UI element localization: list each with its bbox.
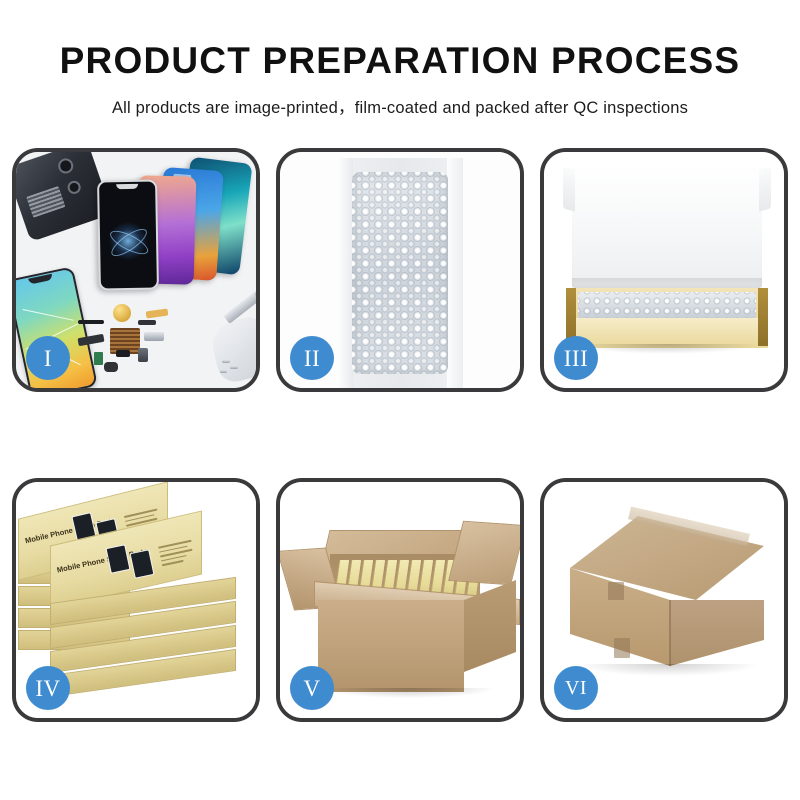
- wallpaper-swirl: [106, 219, 151, 264]
- bubble-pattern-offset: [352, 172, 448, 374]
- part-battery: [138, 348, 148, 362]
- part-connector: [104, 362, 118, 372]
- step-panel-4[interactable]: Mobile Phone Spare Parts Mobile Phone Sp…: [12, 478, 260, 722]
- step-panel-3[interactable]: III: [540, 148, 788, 392]
- part-pcb: [94, 352, 103, 365]
- part-flex-cable-gold: [146, 309, 169, 319]
- part-screw-c: [220, 370, 227, 373]
- carton-shadow: [324, 688, 494, 698]
- carton-right-face: [670, 600, 764, 692]
- bag-edge-left: [337, 158, 353, 388]
- product-preparation-page: PRODUCT PREPARATION PROCESS All products…: [0, 0, 800, 800]
- step-panel-2[interactable]: II: [276, 148, 524, 392]
- phone-screen-black-glass: [97, 179, 159, 290]
- step-panel-5[interactable]: V: [276, 478, 524, 722]
- part-flex-cable-dark: [138, 320, 156, 325]
- step-badge-5: V: [290, 666, 334, 710]
- step-badge-2: II: [290, 336, 334, 380]
- page-subtitle: All products are image-printed，film-coat…: [0, 94, 800, 118]
- part-button: [116, 350, 130, 357]
- process-step-grid: I II: [12, 148, 788, 728]
- carton-seam-vertical: [669, 600, 671, 666]
- bubble-wrapped-part: [352, 172, 448, 374]
- part-bracket: [144, 332, 164, 341]
- part-antenna-bar: [78, 320, 104, 324]
- retail-box-front-1: [50, 662, 236, 684]
- page-title: PRODUCT PREPARATION PROCESS: [0, 42, 800, 81]
- bag-edge-right: [447, 158, 463, 388]
- step-badge-6: VI: [554, 666, 598, 710]
- carton-tab-upper: [608, 582, 624, 600]
- carton-tab-lower: [614, 638, 630, 658]
- box-corner-right: [758, 288, 768, 346]
- part-screw-a: [222, 360, 230, 363]
- white-box-lid: [572, 164, 762, 288]
- step-badge-1: I: [26, 336, 70, 380]
- carton-shadow: [578, 664, 758, 676]
- step-badge-4: IV: [26, 666, 70, 710]
- notch: [116, 184, 138, 189]
- page-header: PRODUCT PREPARATION PROCESS All products…: [0, 0, 800, 118]
- retail-box-front-top: Mobile Phone Spare Parts: [50, 528, 202, 592]
- bubble-pack-in-box: [578, 292, 756, 318]
- gloved-hand: [208, 315, 256, 386]
- step-panel-1[interactable]: I: [12, 148, 260, 392]
- carton-front-face: [318, 600, 464, 692]
- part-screw-b: [230, 366, 238, 369]
- bubble-pattern: [578, 292, 756, 318]
- step-badge-3: III: [554, 336, 598, 380]
- box-shadow: [574, 344, 760, 354]
- part-speaker-coil: [113, 304, 131, 322]
- step-panel-6[interactable]: VI: [540, 478, 788, 722]
